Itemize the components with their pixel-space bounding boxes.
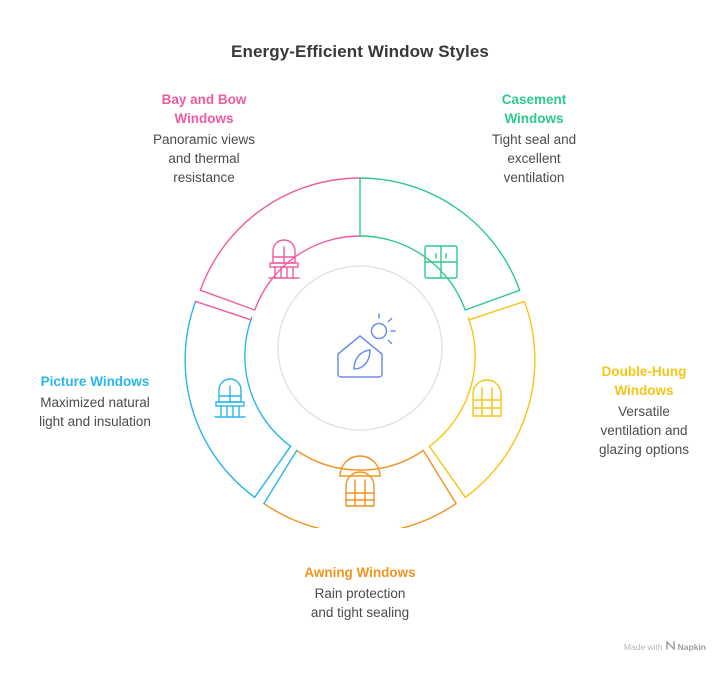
- label-double-hung-body-line3: glazing options: [599, 442, 689, 457]
- page-title: Energy-Efficient Window Styles: [0, 42, 720, 62]
- label-double-hung-windows: Double-Hung Windows Versatile ventilatio…: [570, 362, 718, 459]
- label-casement-heading-line1: Casement: [502, 92, 567, 107]
- label-awning-body-line2: and tight sealing: [311, 605, 409, 620]
- divider-left-upper: [196, 301, 252, 320]
- ring-inner-arc-casement: [360, 236, 465, 310]
- hub-circle: [278, 266, 442, 430]
- ring-arc-casement: [360, 178, 520, 290]
- label-casement-heading-line2: Windows: [504, 111, 563, 126]
- label-double-hung-body-line1: Versatile: [618, 404, 670, 419]
- divider-casement-right: [465, 290, 520, 310]
- ring-arc-bay: [200, 178, 360, 290]
- label-casement-body-line3: ventilation: [504, 170, 565, 185]
- label-casement-body-line1: Tight seal and: [492, 132, 576, 147]
- double-hung-window-icon: [473, 380, 501, 416]
- radial-wheel-diagram: [180, 168, 540, 528]
- ring-inner-arc-picture: [245, 317, 291, 446]
- divider-picture-top: [200, 290, 255, 310]
- label-bay-and-bow-windows: Bay and Bow Windows Panoramic views and …: [104, 90, 304, 187]
- ring-arc-picture: [185, 301, 255, 497]
- label-awning-body-line1: Rain protection: [315, 586, 406, 601]
- casement-window-icon: [425, 246, 457, 278]
- label-bay-body-line3: resistance: [173, 170, 235, 185]
- label-double-hung-heading-line1: Double-Hung: [602, 364, 687, 379]
- label-casement-body-line2: excellent: [507, 151, 560, 166]
- label-awning-heading-line1: Awning Windows: [304, 565, 415, 580]
- watermark-prefix: Made with: [624, 642, 663, 652]
- awning-window-icon: [340, 456, 380, 506]
- label-bay-body-line1: Panoramic views: [153, 132, 255, 147]
- ring-inner-arc-double-hung: [429, 317, 475, 446]
- diagram-canvas: Energy-Efficient Window Styles: [0, 0, 720, 674]
- watermark-name: Napkin: [678, 642, 706, 652]
- label-picture-body-line2: light and insulation: [39, 414, 151, 429]
- label-picture-heading-line1: Picture Windows: [41, 374, 150, 389]
- eco-house-leaf-sun-icon: [338, 314, 395, 377]
- label-double-hung-body-line2: ventilation and: [600, 423, 687, 438]
- divider-casement-dh: [468, 290, 519, 317]
- napkin-logo-icon: [666, 641, 675, 652]
- divider-right-upper: [469, 301, 525, 320]
- label-bay-heading-line2: Windows: [174, 111, 233, 126]
- watermark: Made with Napkin: [624, 641, 706, 652]
- label-bay-heading-line1: Bay and Bow: [162, 92, 247, 107]
- bay-window-icon: [269, 240, 299, 278]
- label-casement-windows: Casement Windows Tight seal and excellen…: [434, 90, 634, 187]
- label-awning-windows: Awning Windows Rain protection and tight…: [260, 563, 460, 622]
- ring-inner-arc-awning: [297, 451, 424, 471]
- ring-inner-arc-bay: [255, 236, 360, 310]
- label-bay-body-line2: and thermal: [168, 151, 239, 166]
- label-double-hung-heading-line2: Windows: [614, 383, 673, 398]
- picture-window-icon: [215, 379, 245, 417]
- ring-arc-awning: [264, 504, 456, 528]
- label-picture-body-line1: Maximized natural: [40, 395, 150, 410]
- label-picture-windows: Picture Windows Maximized natural light …: [6, 372, 184, 431]
